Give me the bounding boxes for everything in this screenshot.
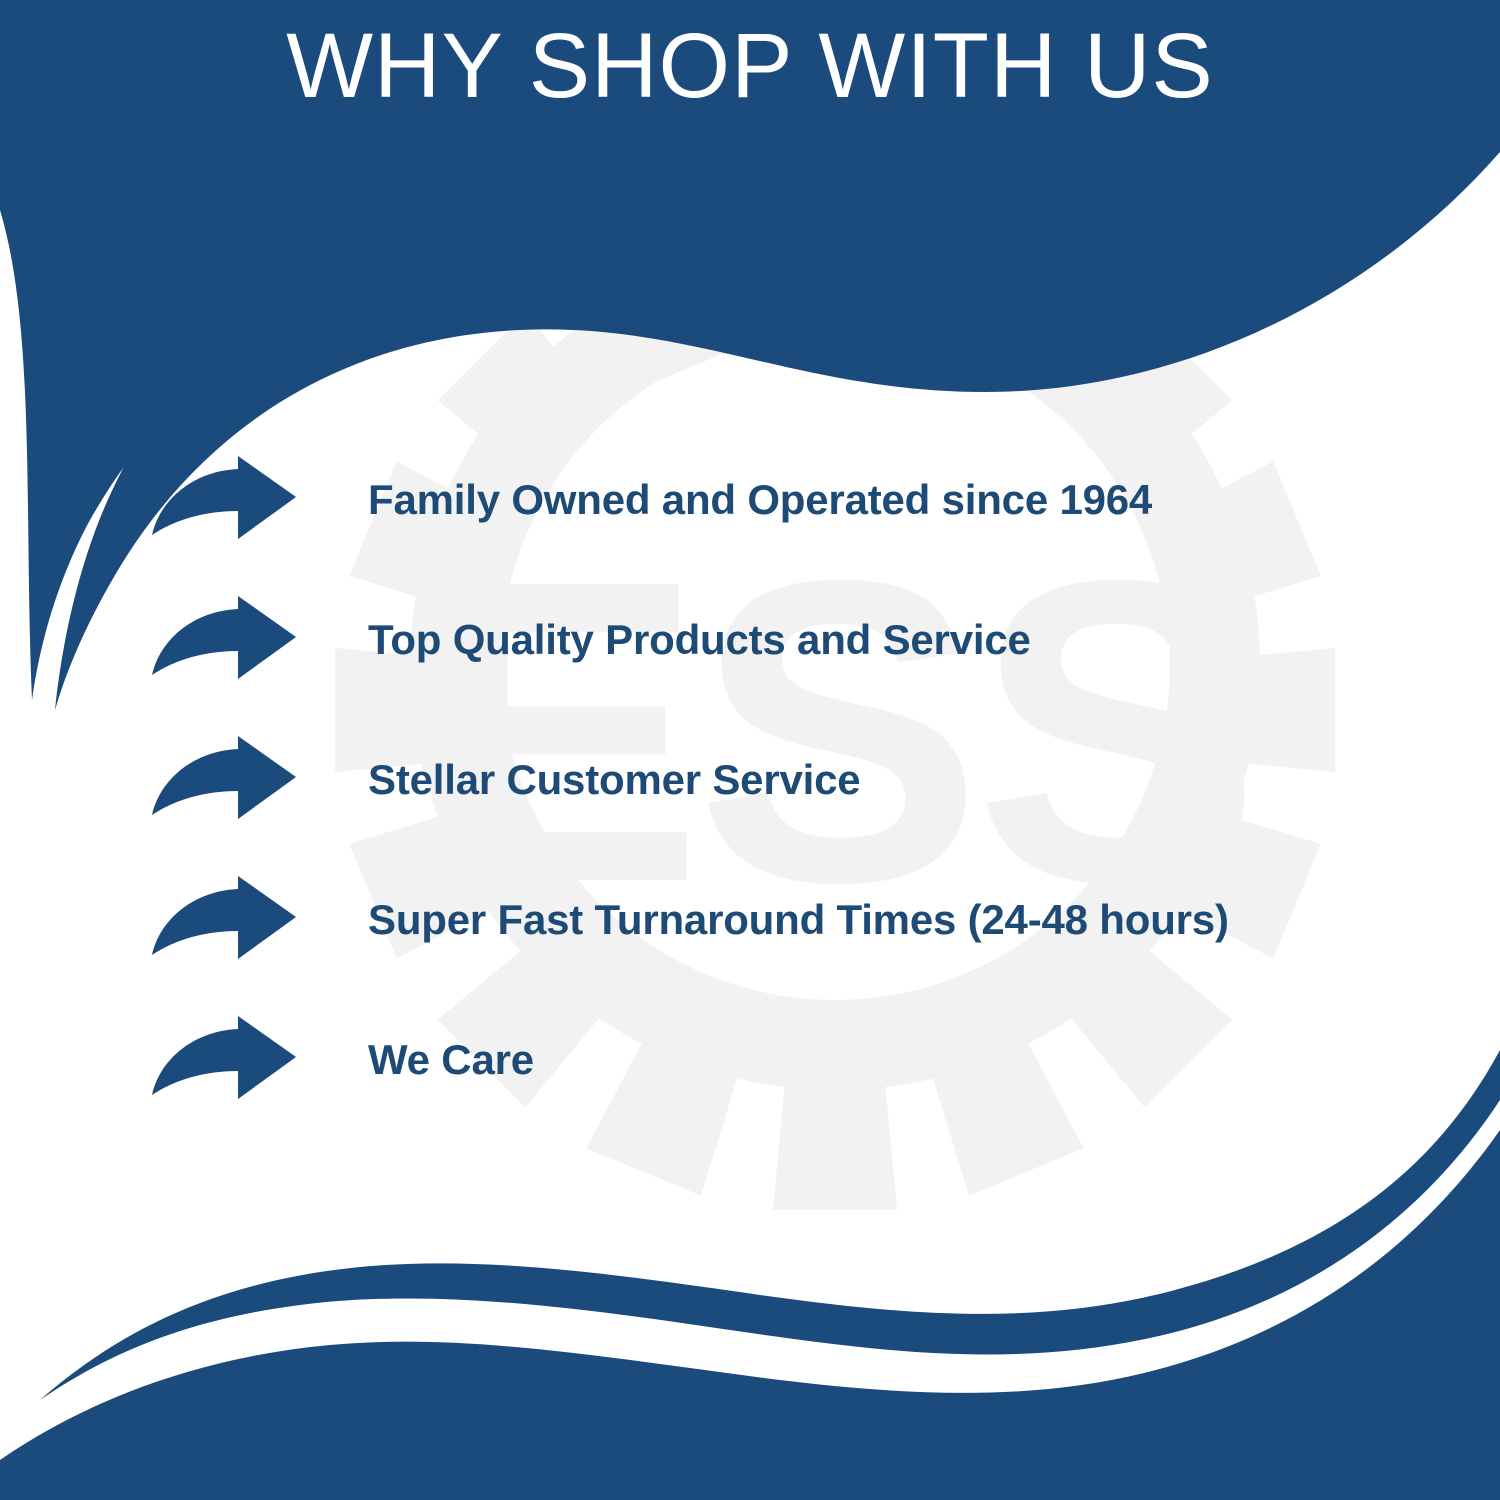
benefit-label: Stellar Customer Service: [368, 756, 860, 804]
page-title: WHY SHOP WITH US: [0, 18, 1500, 115]
benefit-label: Family Owned and Operated since 1964: [368, 476, 1152, 524]
curved-arrow-right-icon: [150, 1015, 300, 1105]
benefit-label: Top Quality Products and Service: [368, 616, 1031, 664]
wave-decorations: [0, 0, 1500, 1500]
benefit-item-top-quality: Top Quality Products and Service: [0, 570, 1500, 710]
bottom-footer-band: [0, 1130, 1500, 1500]
why-shop-with-us-poster: ESS WHY SHOP WITH US Family Owned and Op…: [0, 0, 1500, 1500]
benefit-item-family-owned: Family Owned and Operated since 1964: [0, 430, 1500, 570]
curved-arrow-right-icon: [150, 875, 300, 965]
benefit-label: We Care: [368, 1036, 534, 1084]
poster-content: WHY SHOP WITH US Family Owned and Operat…: [0, 0, 1500, 1500]
background-watermark: ESS: [0, 0, 1500, 1500]
top-accent-ribbon: [55, 112, 1500, 710]
gear-cog-icon: [335, 210, 1335, 1210]
curved-arrow-right-icon: [150, 455, 300, 545]
bottom-accent-ribbon: [40, 1050, 1500, 1400]
watermark-text: ESS: [417, 492, 1253, 972]
curved-arrow-right-icon: [150, 735, 300, 825]
benefit-list: Family Owned and Operated since 1964 Top…: [0, 430, 1500, 1130]
benefit-item-fast-turnaround: Super Fast Turnaround Times (24-48 hours…: [0, 850, 1500, 990]
benefit-label: Super Fast Turnaround Times (24-48 hours…: [368, 896, 1229, 944]
top-header-band: [0, 0, 1500, 700]
benefit-item-stellar-service: Stellar Customer Service: [0, 710, 1500, 850]
benefit-item-we-care: We Care: [0, 990, 1500, 1130]
curved-arrow-right-icon: [150, 595, 300, 685]
